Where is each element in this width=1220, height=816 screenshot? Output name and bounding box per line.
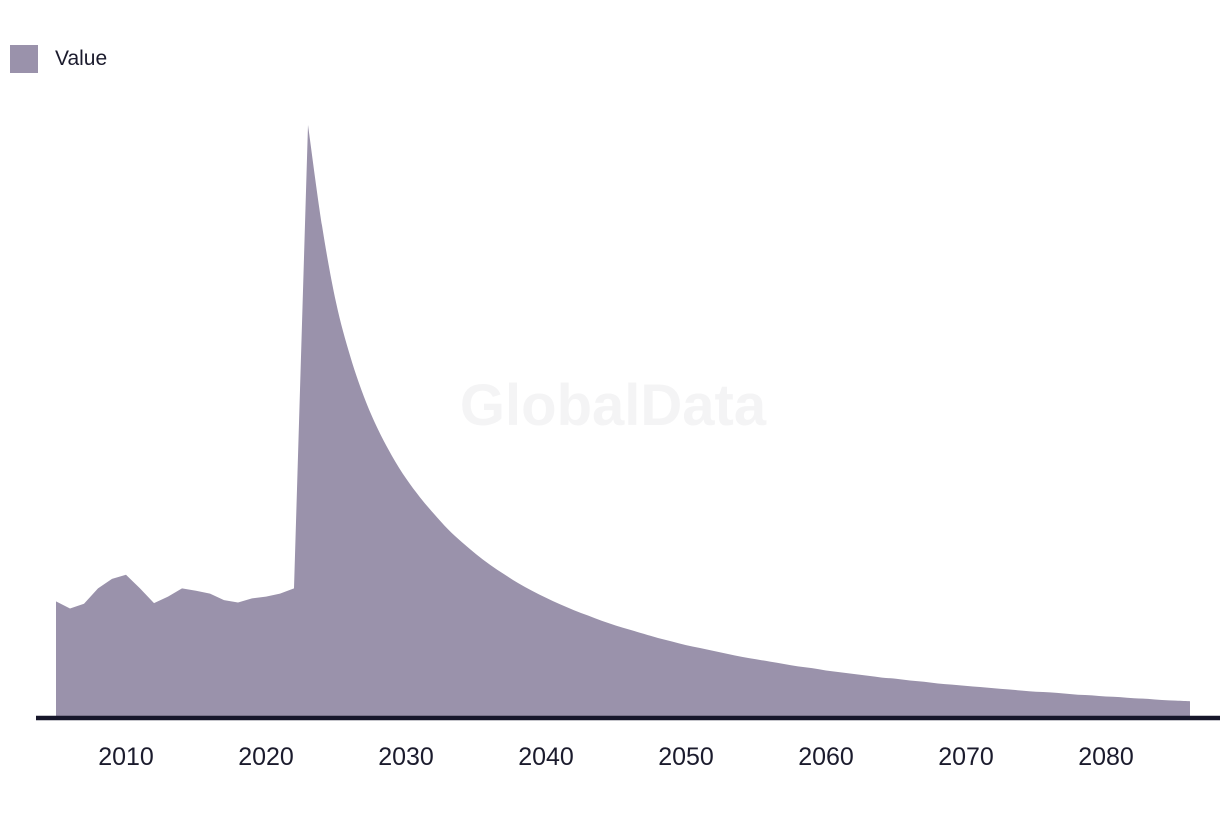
x-tick-label-2050: 2050 [658,743,714,771]
x-tick-label-2070: 2070 [938,743,994,771]
x-tick-label-2040: 2040 [518,743,574,771]
x-tick-label-2080: 2080 [1078,743,1134,771]
x-tick-label-2030: 2030 [378,743,434,771]
chart-svg: GlobalData 20102020203020402050206020702… [0,0,1220,816]
x-tick-label-2020: 2020 [238,743,294,771]
area-chart-plot: GlobalData 20102020203020402050206020702… [0,0,1220,816]
chart-root: Value GlobalData 20102020203020402050206… [0,0,1220,816]
x-tick-label-2010: 2010 [98,743,154,771]
x-axis-tick-labels: 20102020203020402050206020702080 [98,743,1134,771]
x-tick-label-2060: 2060 [798,743,854,771]
globaldata-watermark: GlobalData [460,373,767,438]
